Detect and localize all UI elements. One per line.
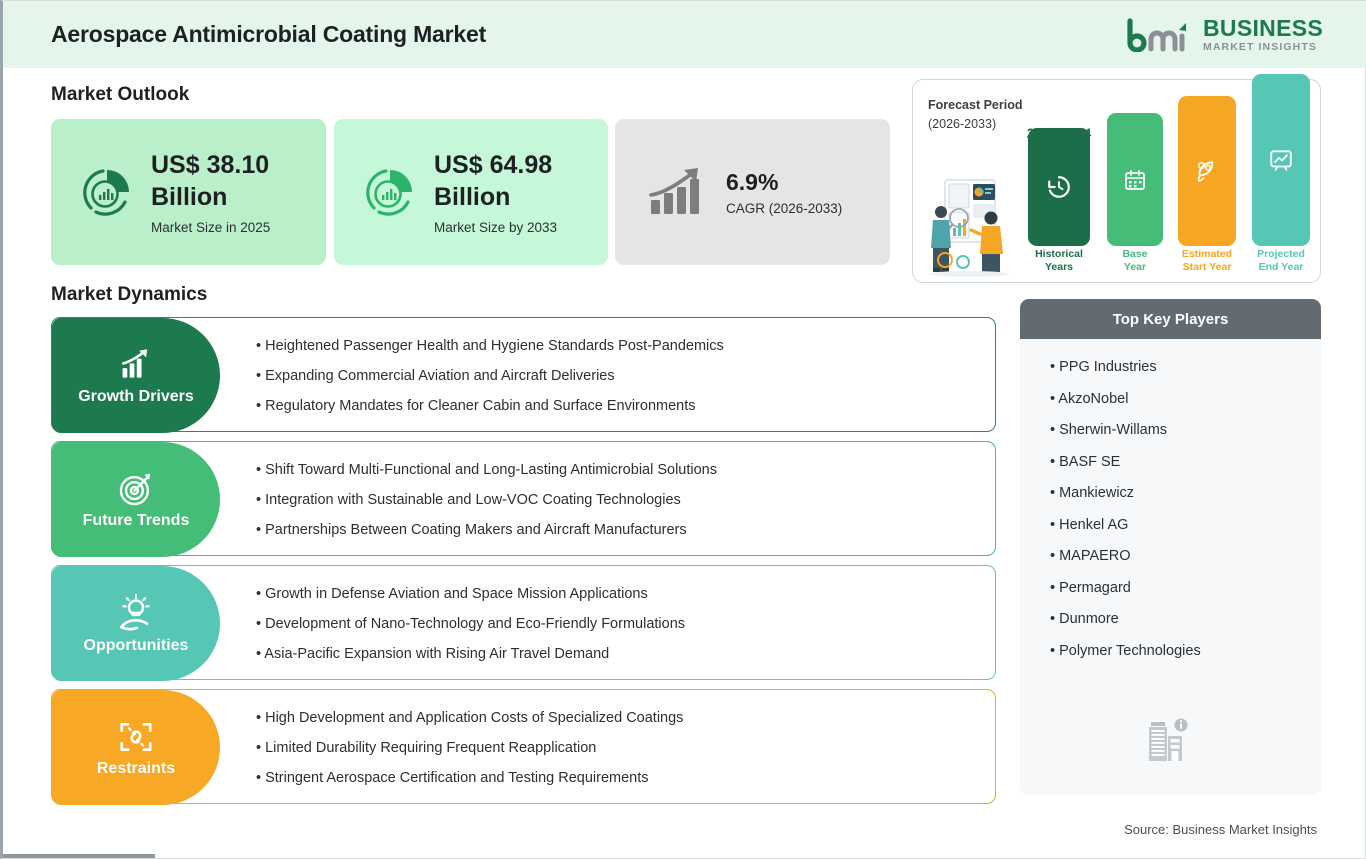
dynamics-items-list: • Shift Toward Multi-Functional and Long… [252, 442, 985, 557]
dynamics-item: • Development of Nano-Technology and Eco… [256, 616, 981, 632]
kpi-card-market-size-2033: US$ 64.98 Billion Market Size by 2033 [334, 119, 608, 265]
dynamics-item: • Stringent Aerospace Certification and … [256, 770, 981, 786]
forecast-bar-estimated: 2026 Estimated Start Year [1167, 90, 1247, 276]
forecast-period-label: Forecast Period (2026-2033) [928, 96, 1022, 134]
company-building-info-icon [1145, 717, 1197, 769]
player-list-item: • Mankiewicz [1050, 485, 1321, 501]
dynamics-item: • High Development and Application Costs… [256, 710, 981, 726]
dynamics-tab-label: Restraints [97, 760, 175, 778]
forecast-label-line-1: Forecast Period [928, 96, 1022, 115]
player-list-item: • PPG Industries [1050, 359, 1321, 375]
market-outlook-heading: Market Outlook [51, 84, 189, 106]
kpi-value: US$ 64.98 Billion [434, 149, 594, 213]
rocket-launch-icon [1194, 158, 1220, 184]
target-dart-icon [117, 470, 155, 508]
donut-bar-chart-icon [362, 164, 418, 220]
donut-bar-chart-icon [79, 164, 135, 220]
top-key-players-list: • PPG Industries • AkzoNobel • Sherwin-W… [1020, 339, 1321, 659]
forecast-label-line-2: (2026-2033) [928, 115, 1022, 134]
logo-line-2: MARKET INSIGHTS [1203, 42, 1323, 53]
kpi-card-body: US$ 38.10 Billion Market Size in 2025 [151, 149, 311, 235]
forecast-bar-caption: Projected End Year [1238, 248, 1324, 274]
dynamics-items-list: • High Development and Application Costs… [252, 690, 985, 805]
growth-chart-arrow-icon [117, 346, 155, 384]
player-list-item: • AkzoNobel [1050, 391, 1321, 407]
kpi-value: 6.9% [726, 168, 842, 197]
top-key-players-title: Top Key Players [1113, 311, 1229, 328]
dynamics-items-list: • Growth in Defense Aviation and Space M… [252, 566, 985, 681]
dynamics-item: • Regulatory Mandates for Cleaner Cabin … [256, 398, 981, 414]
forecast-caption-line-2: End Year [1259, 261, 1304, 273]
dynamics-item: • Partnerships Between Coating Makers an… [256, 522, 981, 538]
player-list-item: • Sherwin-Willams [1050, 422, 1321, 438]
forecast-caption-line-2: Years [1045, 261, 1073, 273]
forecast-caption-line-2: Start Year [1183, 261, 1232, 273]
presentation-chart-icon [1268, 147, 1294, 173]
forecast-bar-projected: 2033 Projected End Year [1241, 90, 1321, 276]
dynamics-item: • Integration with Sustainable and Low-V… [256, 492, 981, 508]
forecast-bar-caption: Historical Years [1018, 248, 1100, 274]
kpi-caption: Market Size by 2033 [434, 220, 594, 235]
infographic-page: Aerospace Antimicrobial Coating Market B… [0, 0, 1366, 859]
forecast-caption-line-1: Projected [1257, 248, 1305, 260]
dynamics-items-list: • Heightened Passenger Health and Hygien… [252, 318, 985, 433]
dynamics-tab-label: Opportunities [84, 637, 189, 655]
market-dynamics-heading: Market Dynamics [51, 284, 207, 306]
player-list-item: • Dunmore [1050, 611, 1321, 627]
calendar-icon [1123, 168, 1147, 192]
dynamics-item: • Asia-Pacific Expansion with Rising Air… [256, 646, 981, 662]
kpi-value: US$ 38.10 Billion [151, 149, 311, 213]
dynamics-item: • Growth in Defense Aviation and Space M… [256, 586, 981, 602]
forecast-bar-column [1178, 96, 1236, 246]
player-list-item: • MAPAERO [1050, 548, 1321, 564]
kpi-caption: Market Size in 2025 [151, 220, 311, 235]
forecast-bar-historical: 2022-2024 Historical Years [1021, 90, 1097, 276]
clock-history-icon [1046, 174, 1072, 200]
brand-logo: BUSINESS MARKET INSIGHTS [1126, 17, 1323, 53]
source-attribution: Source: Business Market Insights [1124, 822, 1317, 837]
footer-accent-bar [3, 854, 155, 858]
player-list-item: • Polymer Technologies [1050, 643, 1321, 659]
forecast-caption-line-1: Historical [1035, 248, 1083, 260]
dynamics-item: • Limited Durability Requiring Frequent … [256, 740, 981, 756]
logo-line-1: BUSINESS [1203, 17, 1323, 40]
dynamics-tab-future-trends[interactable]: Future Trends [52, 442, 220, 557]
kpi-card-market-size-2025: US$ 38.10 Billion Market Size in 2025 [51, 119, 326, 265]
dynamics-tab-label: Growth Drivers [78, 388, 194, 406]
forecast-bar-column [1252, 74, 1310, 246]
broken-link-bracket-icon [117, 718, 155, 756]
kpi-card-cagr: 6.9% CAGR (2026-2033) [615, 119, 890, 265]
top-key-players-header: Top Key Players [1020, 299, 1321, 339]
forecast-bar-base: 2025 Base Year [1097, 90, 1173, 276]
page-title: Aerospace Antimicrobial Coating Market [51, 21, 486, 48]
logo-wordmark: BUSINESS MARKET INSIGHTS [1203, 17, 1323, 53]
dynamics-tab-growth-drivers[interactable]: Growth Drivers [52, 318, 220, 433]
forecast-caption-line-1: Estimated [1182, 248, 1232, 260]
kpi-card-body: 6.9% CAGR (2026-2033) [726, 168, 842, 216]
dynamics-row-restraints: Restraints • High Development and Applic… [51, 689, 996, 804]
dynamics-item: • Shift Toward Multi-Functional and Long… [256, 462, 981, 478]
analytics-team-illustration [919, 172, 1019, 277]
forecast-period-panel: Forecast Period (2026-2033) [912, 79, 1321, 283]
dynamics-item: • Expanding Commercial Aviation and Airc… [256, 368, 981, 384]
dynamics-item: • Heightened Passenger Health and Hygien… [256, 338, 981, 354]
growth-arrow-bars-icon [648, 166, 706, 218]
forecast-bar-column [1028, 128, 1090, 246]
top-key-players-panel: Top Key Players • PPG Industries • AkzoN… [1020, 299, 1321, 795]
kpi-caption: CAGR (2026-2033) [726, 201, 842, 216]
lightbulb-hand-icon [116, 593, 156, 633]
player-list-item: • Henkel AG [1050, 517, 1321, 533]
kpi-card-body: US$ 64.98 Billion Market Size by 2033 [434, 149, 594, 235]
bmi-logo-icon [1126, 18, 1194, 52]
dynamics-row-future-trends: Future Trends • Shift Toward Multi-Funct… [51, 441, 996, 556]
dynamics-row-opportunities: Opportunities • Growth in Defense Aviati… [51, 565, 996, 680]
dynamics-row-growth-drivers: Growth Drivers • Heightened Passenger He… [51, 317, 996, 432]
dynamics-tab-restraints[interactable]: Restraints [52, 690, 220, 805]
player-list-item: • BASF SE [1050, 454, 1321, 470]
dynamics-tab-opportunities[interactable]: Opportunities [52, 566, 220, 681]
page-header: Aerospace Antimicrobial Coating Market B… [3, 1, 1366, 68]
dynamics-tab-label: Future Trends [83, 512, 190, 530]
forecast-caption-line-1: Base [1122, 248, 1147, 260]
forecast-bar-column [1107, 113, 1163, 246]
forecast-caption-line-2: Year [1124, 261, 1146, 273]
player-list-item: • Permagard [1050, 580, 1321, 596]
